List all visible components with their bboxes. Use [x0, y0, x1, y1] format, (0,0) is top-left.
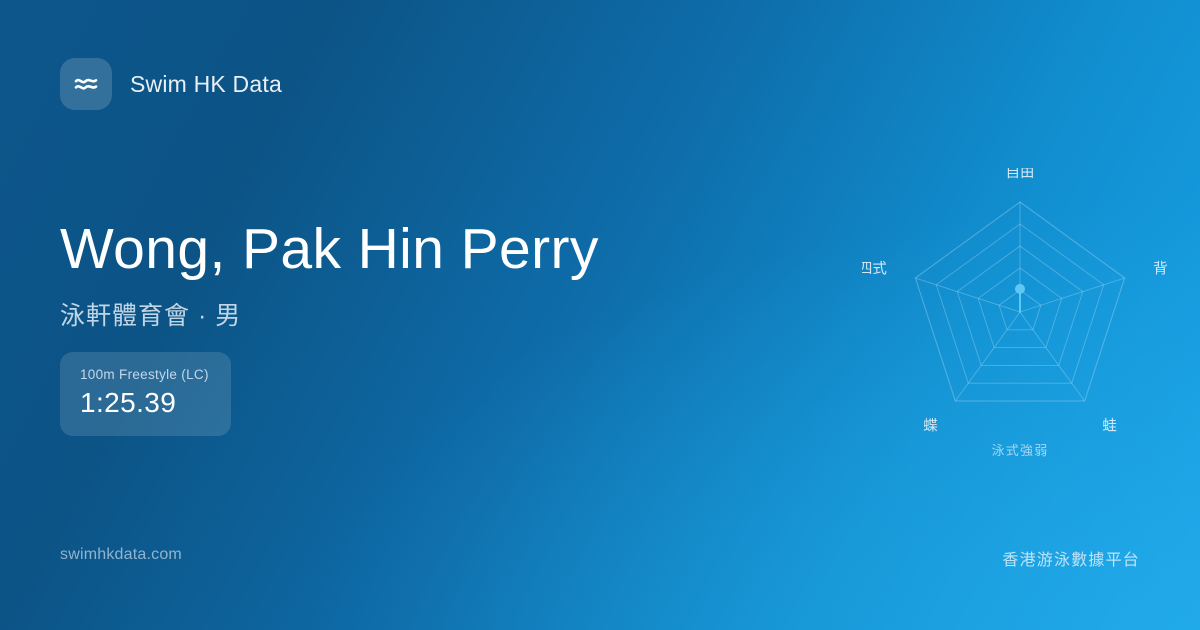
page-title: Wong, Pak Hin Perry [60, 218, 599, 282]
radar-caption: 泳式強弱 [862, 440, 1178, 459]
best-time-card: 100m Freestyle (LC) 1:25.39 [60, 352, 231, 436]
radar-data-points [1015, 284, 1025, 294]
radar-axis-label: 蝶 [923, 417, 938, 434]
footer-tagline: 香港游泳數據平台 [1002, 546, 1140, 570]
radar-axis-label: 蛙 [1102, 417, 1117, 434]
radar-axis-labels: 自由背蛙蝶四式 [862, 168, 1168, 434]
hero-block: Wong, Pak Hin Perry 泳軒體育會 · 男 [60, 218, 599, 332]
radar-axis-label: 背 [1153, 261, 1168, 278]
radar-axis-label: 自由 [1006, 168, 1035, 181]
wave-icon [60, 58, 112, 110]
stat-event-label: 100m Freestyle (LC) [80, 367, 211, 382]
stroke-strength-radar-chart: 自由背蛙蝶四式 泳式強弱 [862, 168, 1178, 468]
brand-header: Swim HK Data [60, 58, 282, 110]
footer-site-url: swimhkdata.com [60, 546, 182, 564]
stat-time-value: 1:25.39 [80, 387, 211, 419]
share-card: Swim HK Data Wong, Pak Hin Perry 泳軒體育會 ·… [0, 0, 1200, 630]
radar-axis-label: 四式 [862, 261, 887, 278]
brand-name: Swim HK Data [130, 71, 282, 98]
athlete-meta: 泳軒體育會 · 男 [60, 296, 599, 332]
